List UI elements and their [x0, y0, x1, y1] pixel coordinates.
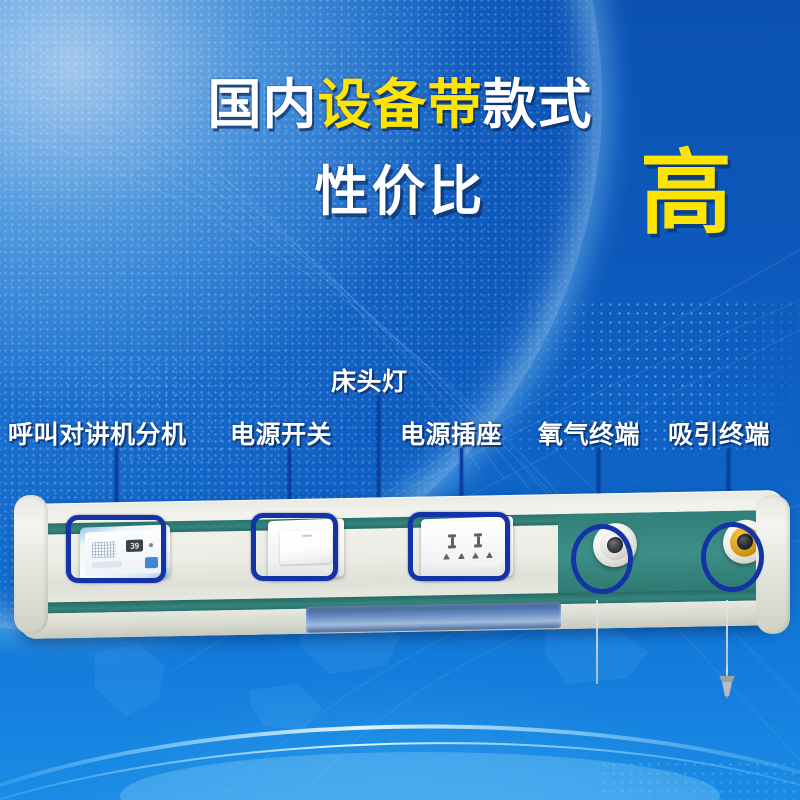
panel-end-cap-left: [14, 495, 48, 634]
suction-connector-plug-icon: [717, 665, 737, 699]
headline-subtext: 性价比: [315, 165, 486, 219]
callout-label-switch: 电源开关: [230, 415, 332, 451]
callout-label-lamp: 床头灯: [331, 362, 408, 398]
oxygen-hanging-wire: [596, 600, 598, 684]
headline-part-1: 国内: [208, 75, 318, 135]
bedside-lamp-diffuser[interactable]: [306, 602, 561, 633]
headline-part-2: 设备带: [318, 75, 483, 135]
highlight-box-socket: [408, 512, 510, 581]
headline-emphasis: 高: [640, 148, 732, 240]
dot-matrix-bottom: [600, 760, 800, 800]
headline-line-1: 国内设备带款式: [0, 78, 800, 132]
callout-label-oxygen: 氧气终端: [538, 415, 640, 451]
highlight-box-switch: [251, 513, 338, 581]
highlight-circle-suction: [701, 522, 764, 592]
callout-label-socket: 电源插座: [400, 415, 502, 451]
callout-label-suction: 吸引终端: [668, 415, 770, 451]
highlight-box-intercom: [66, 515, 166, 583]
highlight-circle-oxygen: [571, 524, 633, 594]
callout-label-intercom: 呼叫对讲机分机: [8, 415, 187, 451]
headline-part-3: 款式: [483, 75, 593, 135]
promo-banner: 国内设备带款式 性价比 高 呼叫对讲机分机 床头灯 电源开关 电源插座 氧气终端…: [0, 0, 800, 800]
